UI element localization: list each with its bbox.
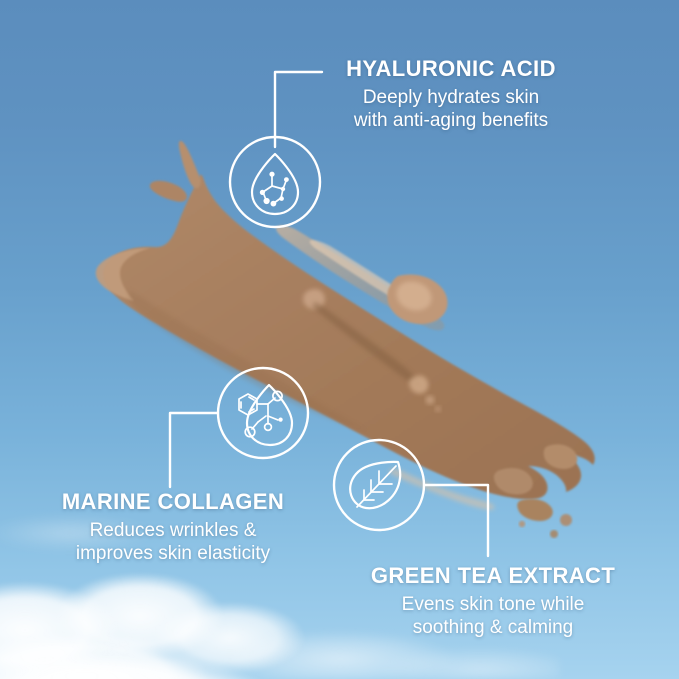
sky-background	[0, 0, 679, 679]
cloud-main	[0, 534, 350, 679]
cloud-wisp-lower	[230, 589, 560, 679]
ingredient-infographic-scene: HYALURONIC ACID Deeply hydrates skin wit…	[0, 0, 679, 679]
cloud-wisp-upper	[0, 499, 190, 559]
